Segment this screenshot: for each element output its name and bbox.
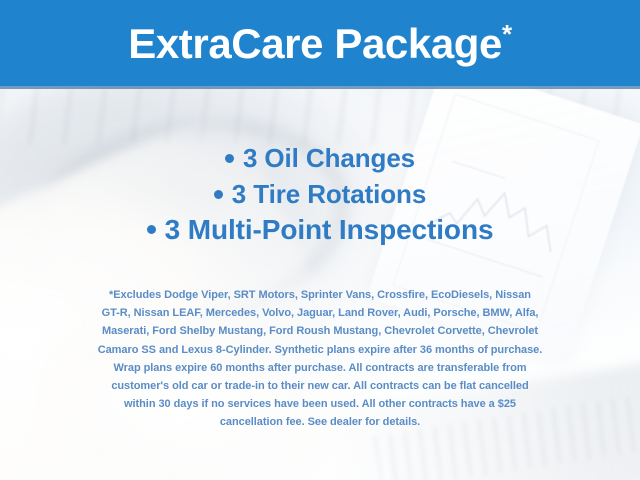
disclaimer-line: customer's old car or trade-in to their … (26, 377, 614, 395)
bullet-icon (225, 154, 234, 163)
extracare-package-ad: ExtraCare Package* 3 Oil Changes 3 Tire … (0, 0, 640, 480)
benefit-item-tire-rotations: 3 Tire Rotations (0, 176, 640, 212)
benefit-item-multi-point-inspections: 3 Multi-Point Inspections (0, 212, 640, 248)
benefit-item-oil-changes: 3 Oil Changes (0, 140, 640, 176)
disclaimer-line: Maserati, Ford Shelby Mustang, Ford Rous… (26, 322, 614, 340)
disclaimer-line: GT-R, Nissan LEAF, Mercedes, Volvo, Jagu… (26, 304, 614, 322)
page-title-asterisk: * (502, 19, 512, 49)
disclaimer-text: *Excludes Dodge Viper, SRT Motors, Sprin… (26, 286, 614, 432)
bullet-icon (214, 190, 223, 199)
benefit-label: 3 Tire Rotations (232, 179, 426, 209)
header-divider-rule (0, 86, 640, 89)
benefit-label: 3 Multi-Point Inspections (165, 214, 494, 245)
disclaimer-line: *Excludes Dodge Viper, SRT Motors, Sprin… (26, 286, 614, 304)
disclaimer-line: Camaro SS and Lexus 8-Cylinder. Syntheti… (26, 341, 614, 359)
disclaimer-line: Wrap plans expire 60 months after purcha… (26, 359, 614, 377)
benefits-list: 3 Oil Changes 3 Tire Rotations 3 Multi-P… (0, 140, 640, 248)
page-title-text: ExtraCare Package (128, 20, 502, 67)
page-title: ExtraCare Package* (0, 17, 640, 71)
bullet-icon (147, 225, 156, 234)
disclaimer-line: cancellation fee. See dealer for details… (26, 413, 614, 431)
benefit-label: 3 Oil Changes (243, 143, 415, 173)
disclaimer-line: within 30 days if no services have been … (26, 395, 614, 413)
